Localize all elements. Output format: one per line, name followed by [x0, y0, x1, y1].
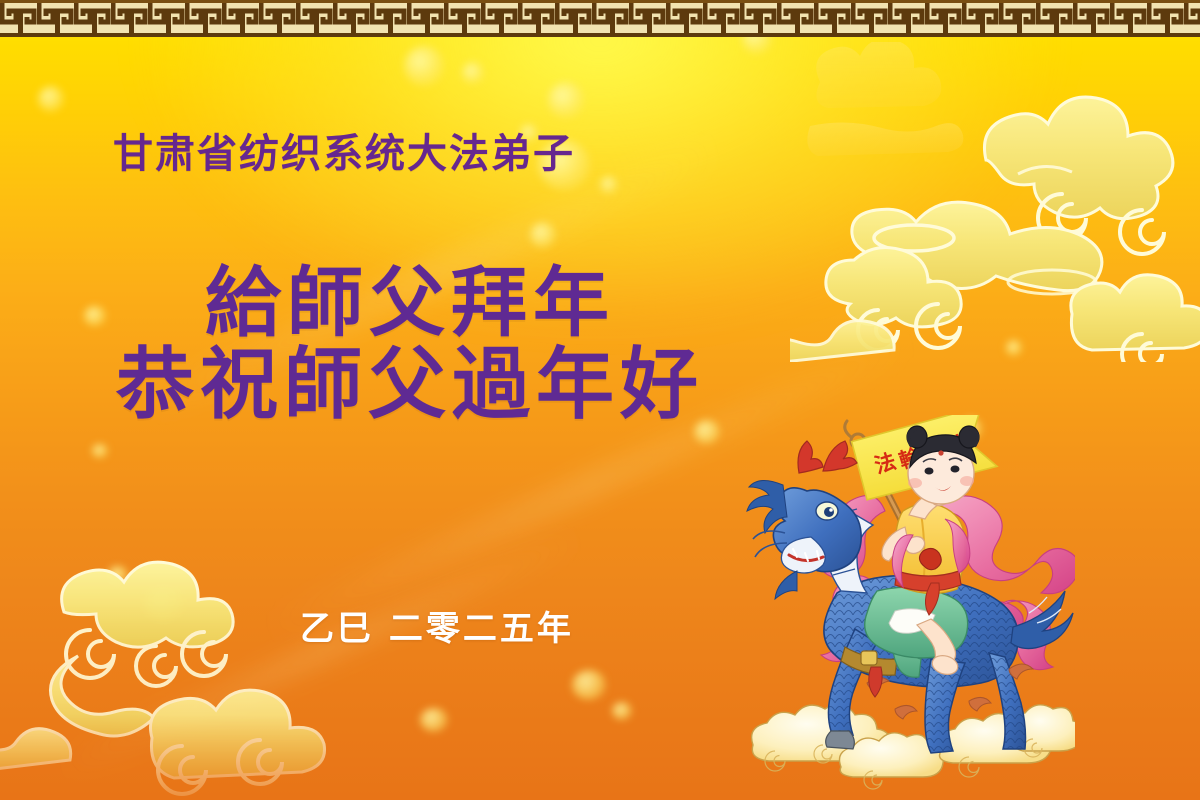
svg-text:法: 法 [944, 431, 971, 460]
bokeh-light-spot [572, 670, 606, 700]
svg-text:輪: 輪 [896, 444, 924, 473]
bokeh-light-spot [144, 588, 184, 620]
greeting-line-2: 恭祝師父過年好 [0, 344, 820, 426]
light-streak [59, 527, 581, 779]
bokeh-light-spot [530, 222, 556, 248]
banner-pole [845, 421, 913, 543]
bokeh-light-spot [420, 708, 448, 732]
bokeh-light-spot [38, 86, 64, 112]
organization-subtitle: 甘肃省纺织系统大法弟子 [113, 134, 575, 174]
child-figure [865, 426, 979, 677]
bokeh-light-spot [600, 176, 618, 194]
bokeh-light-spot [612, 702, 632, 720]
lunar-date-label: 乙巳 二零二五年 [300, 612, 574, 646]
banner-characters: 法 輪 大 法 [870, 431, 971, 479]
greeting-card: 甘肃省纺织系统大法弟子 給師父拜年 恭祝師父過年好 乙巳 二零二五年 [0, 0, 1200, 800]
greeting-block: 給師父拜年 恭祝師父過年好 [0, 262, 820, 426]
blue-dragon [747, 441, 1073, 753]
bokeh-light-spot [108, 566, 128, 584]
pennant-banner: 法 輪 大 法 [850, 415, 999, 501]
svg-text:法: 法 [872, 449, 899, 478]
bokeh-light-spot [92, 444, 108, 458]
chinese-meander-border [0, 0, 1200, 37]
child-riding-dragon-illustration: 法 輪 大 法 [745, 415, 1075, 795]
bokeh-light-spot [960, 418, 982, 440]
pink-ribbons [821, 496, 1075, 670]
bokeh-light-spot [548, 82, 584, 118]
auspicious-cloud-top-right [790, 42, 1200, 366]
greeting-line-1: 給師父拜年 [0, 262, 820, 344]
bokeh-light-spot [462, 62, 484, 84]
pink-ribbons-front [892, 519, 970, 587]
bokeh-light-spot [404, 46, 444, 86]
svg-text:大: 大 [920, 438, 947, 467]
bokeh-light-spot [1006, 340, 1022, 356]
cloud-puffs [752, 704, 1075, 789]
auspicious-cloud-bottom-left [0, 560, 340, 800]
